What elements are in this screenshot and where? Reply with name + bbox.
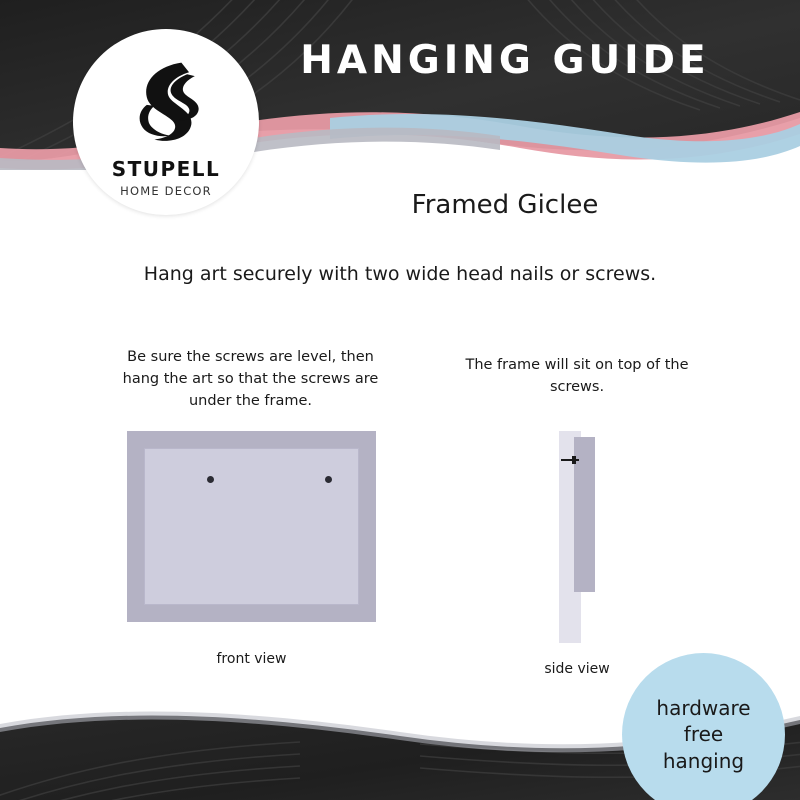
badge-line-2: free [684,721,723,747]
front-view-frame [127,431,376,622]
stupell-swirl-mark-icon [118,55,214,151]
hanging-guide-page: HANGING GUIDE STUPELL HOME DECOR Framed … [0,0,800,800]
hardware-free-badge: hardware free hanging [622,653,785,800]
instruction-text: Hang art securely with two wide head nai… [0,263,800,285]
badge-line-1: hardware [656,695,750,721]
logo-subtitle: HOME DECOR [73,184,259,198]
screw-dot-right-icon [325,476,332,483]
screw-dot-left-icon [207,476,214,483]
side-view-screw-head-icon [572,456,576,464]
badge-line-3: hanging [663,748,744,774]
product-type-heading: Framed Giclee [290,190,720,220]
front-view-mat [144,448,359,605]
logo-badge: STUPELL HOME DECOR [73,29,259,215]
side-view-caption: The frame will sit on top of the screws. [452,355,702,399]
front-view-caption: Be sure the screws are level, then hang … [118,347,383,412]
logo-name: STUPELL [73,157,259,181]
page-title: HANGING GUIDE [295,38,715,83]
front-view-label: front view [127,651,376,667]
side-view-screw-icon [561,459,579,461]
